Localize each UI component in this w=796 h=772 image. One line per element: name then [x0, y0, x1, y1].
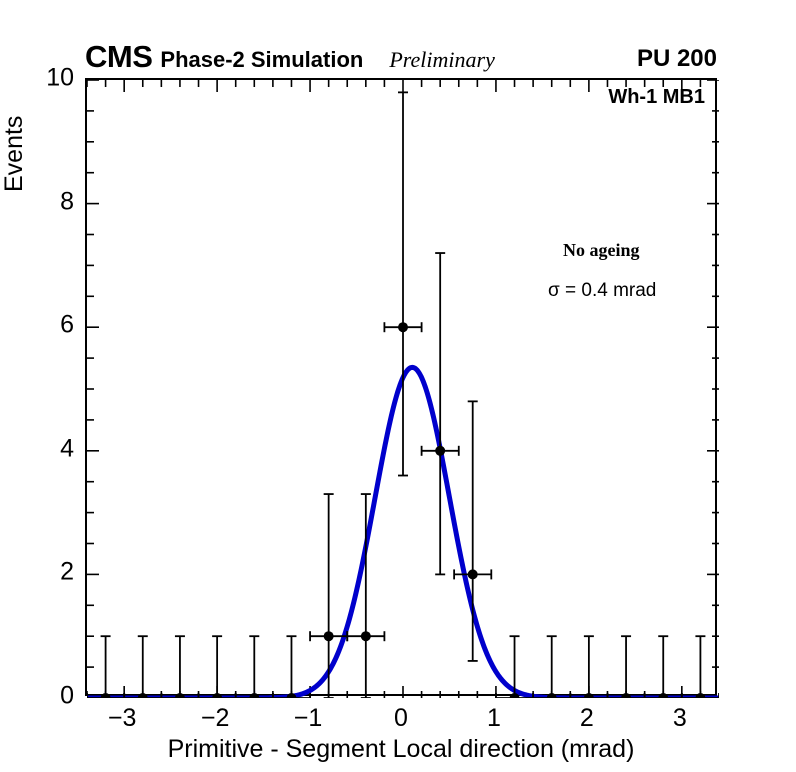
preliminary-label: Preliminary [389, 49, 495, 71]
y-tick-label: 10 [28, 64, 74, 93]
y-tick-label: 8 [28, 187, 74, 216]
x-tick-label: 0 [394, 704, 408, 733]
y-tick-label: 4 [28, 434, 74, 463]
x-tick-label: −1 [294, 704, 323, 733]
region-annotation: Wh-1 MB1 [608, 86, 705, 109]
x-tick-label: 1 [487, 704, 501, 733]
y-tick-label: 0 [28, 682, 74, 711]
plot-frame: Wh-1 MB1 No ageing σ = 0.4 mrad [85, 78, 717, 696]
x-axis-title: Primitive - Segment Local direction (mra… [85, 735, 717, 764]
plot-graphics [87, 80, 719, 698]
y-tick-label: 6 [28, 311, 74, 340]
ageing-annotation: No ageing [563, 240, 640, 261]
simulation-label: Phase-2 Simulation [160, 49, 363, 71]
cms-logo: CMS [85, 41, 152, 72]
cms-header: CMS Phase-2 Simulation Preliminary PU 20… [85, 41, 717, 71]
x-tick-label: −2 [201, 704, 230, 733]
plot-canvas: CMS Phase-2 Simulation Preliminary PU 20… [0, 0, 796, 772]
x-tick-label: 2 [580, 704, 594, 733]
x-tick-label: 3 [673, 704, 687, 733]
sigma-annotation: σ = 0.4 mrad [548, 280, 656, 302]
x-tick-label: −3 [108, 704, 137, 733]
pileup-label: PU 200 [637, 47, 717, 71]
y-tick-label: 2 [28, 558, 74, 587]
